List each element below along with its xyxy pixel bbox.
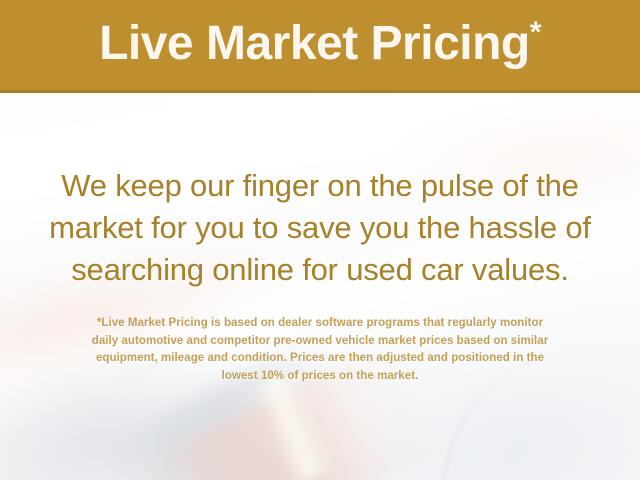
content-area: We keep our finger on the pulse of the m…: [0, 93, 640, 480]
headline-block: We keep our finger on the pulse of the m…: [0, 165, 640, 291]
page-title: Live Market Pricing*: [99, 20, 541, 71]
page-title-asterisk: *: [530, 16, 541, 49]
disclaimer-line-1: *Live Market Pricing is based on dealer …: [20, 315, 620, 333]
headline-line-2: market for you to save you the hassle of: [0, 207, 640, 249]
disclaimer-line-4: lowest 10% of prices on the market.: [20, 368, 620, 386]
header-band: Live Market Pricing*: [0, 0, 640, 93]
disclaimer-block: *Live Market Pricing is based on dealer …: [20, 315, 620, 385]
disclaimer-line-3: equipment, mileage and condition. Prices…: [20, 350, 620, 368]
headline-line-3: searching online for used car values.: [0, 249, 640, 291]
live-market-pricing-slide: Live Market Pricing* We keep our finger …: [0, 0, 640, 480]
disclaimer-line-2: daily automotive and competitor pre-owne…: [20, 333, 620, 351]
headline-line-1: We keep our finger on the pulse of the: [0, 165, 640, 207]
page-title-text: Live Market Pricing: [99, 17, 530, 70]
